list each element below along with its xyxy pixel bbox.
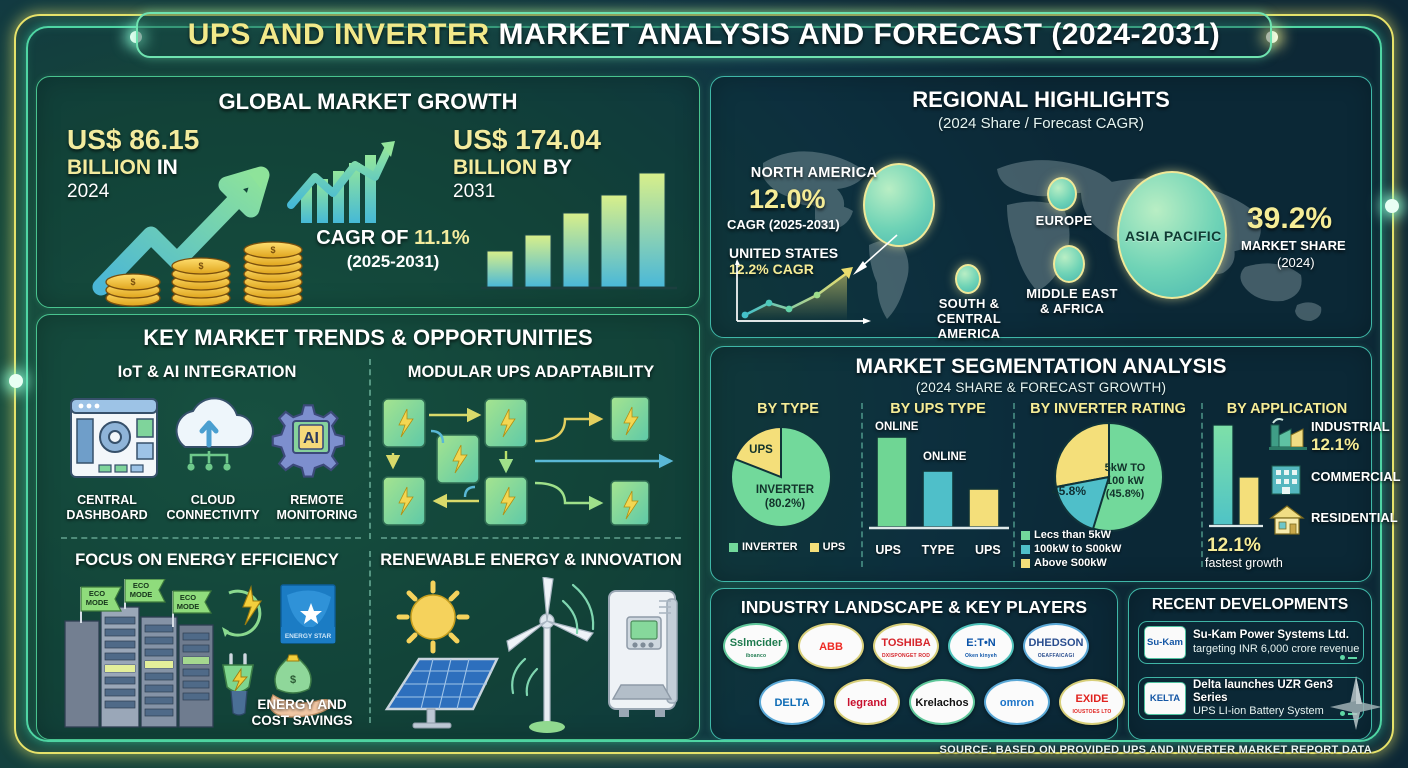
north-america-cagr: 12.0% bbox=[749, 184, 826, 215]
logo-name: Krelachos bbox=[915, 697, 968, 709]
inverter-legend-3: Above S00kW bbox=[1021, 557, 1121, 569]
seg-heading: MARKET SEGMENTATION ANALYSIS bbox=[711, 355, 1371, 379]
north-america-caption: CAGR (2025-2031) bbox=[727, 217, 840, 232]
bubble-middle-east-africa[interactable] bbox=[1053, 245, 1085, 283]
logo-chip-delta[interactable]: DELTA bbox=[759, 679, 825, 725]
by-type-pie-chart: UPS INVERTER (80.2%) bbox=[719, 421, 859, 541]
recent-item-1[interactable]: Su-Kam Su-Kam Power Systems Ltd. targeti… bbox=[1138, 621, 1364, 664]
recent-logo-text-2: KELTA bbox=[1150, 693, 1180, 704]
source-note: SOURCE: BASED ON PROVIDED UPS AND INVERT… bbox=[940, 744, 1372, 756]
icon-caption-cloud-connectivity: CLOUD CONNECTIVITY bbox=[161, 493, 265, 523]
trends-divider-h-left bbox=[61, 537, 361, 539]
panel-industry-landscape: INDUSTRY LANDSCAPE & KEY PLAYERS Sslmcid… bbox=[710, 588, 1118, 740]
page-title-rest: MARKET ANALYSIS AND FORECAST (2024-2031) bbox=[490, 18, 1221, 51]
by-type-legend: INVERTER UPS bbox=[729, 541, 845, 553]
trend-iot-icons: AI bbox=[59, 393, 359, 493]
app-fastest-growth-caption: fastest growth bbox=[1205, 556, 1283, 570]
svg-text:(45.8%): (45.8%) bbox=[1106, 488, 1145, 500]
legend-swatch-above-500kw bbox=[1021, 559, 1030, 568]
logo-chip-toshiba[interactable]: TOSHIBADXISPONGET ROD bbox=[873, 623, 939, 669]
stat-2024-value: US$ 86.15 bbox=[67, 125, 199, 154]
logo-name: Sslmcider bbox=[730, 637, 783, 649]
legend-label-ups: UPS bbox=[823, 541, 846, 553]
coin-stack-mid: $ bbox=[172, 258, 230, 306]
legend-swatch-100kw bbox=[1021, 545, 1030, 554]
neon-node-left bbox=[9, 374, 23, 388]
logo-row-1: SslmcideriboancoABBTOSHIBADXISPONGET ROD… bbox=[723, 623, 1089, 669]
by-ups-type-bar-chart bbox=[865, 435, 1011, 545]
panel-regional-highlights: REGIONAL HIGHLIGHTS (2024 Share / Foreca… bbox=[710, 76, 1372, 338]
cagr-label: CAGR OF bbox=[316, 227, 414, 249]
inverter-legend-label-1: Lecs than 5kW bbox=[1034, 529, 1111, 541]
page-title-bar: UPS AND INVERTER MARKET ANALYSIS AND FOR… bbox=[136, 12, 1272, 58]
logo-chip-exide[interactable]: EXIDEIOUSTOES LTO bbox=[1059, 679, 1125, 725]
svg-text:$: $ bbox=[198, 261, 203, 271]
cagr-callout: CAGR OF 11.1% (2025-2031) bbox=[283, 227, 503, 272]
north-america-label: NORTH AMERICA bbox=[729, 165, 899, 182]
inverter-unit-icon bbox=[609, 591, 677, 717]
asia-pacific-year: (2024) bbox=[1277, 255, 1315, 270]
trends-divider-vertical-top bbox=[369, 359, 371, 539]
icon-caption-central-dashboard: CENTRAL DASHBOARD bbox=[59, 493, 155, 523]
logo-name: TOSHIBA bbox=[881, 637, 930, 649]
by-application-bar-chart bbox=[1207, 421, 1265, 537]
logo-chip-omron[interactable]: omron bbox=[984, 679, 1050, 725]
asia-pacific-caption: MARKET SHARE bbox=[1241, 238, 1346, 253]
bubble-south-central-america[interactable] bbox=[955, 264, 981, 294]
ups-type-label-1: ONLINE bbox=[875, 421, 918, 433]
commercial-building-icon bbox=[1267, 460, 1307, 496]
panel-key-market-trends: KEY MARKET TRENDS & OPPORTUNITIES IoT & … bbox=[36, 314, 700, 740]
by-inverter-rating-pie-chart: 5kW TO 100 kW (45.8%) 45.8% bbox=[1019, 419, 1199, 541]
solar-panel-icon bbox=[387, 659, 497, 728]
logo-name: legrand bbox=[847, 697, 887, 709]
trends-heading: KEY MARKET TRENDS & OPPORTUNITIES bbox=[37, 325, 699, 351]
svg-text:MODE: MODE bbox=[177, 602, 200, 611]
seg-by-inverter-rating-head: BY INVERTER RATING bbox=[1017, 401, 1199, 417]
by-type-legend-ups: UPS bbox=[810, 541, 846, 553]
svg-text:INVERTER: INVERTER bbox=[756, 484, 815, 496]
sun-icon bbox=[399, 583, 467, 651]
asia-pacific-share: 39.2% bbox=[1247, 202, 1332, 236]
svg-text:ECO: ECO bbox=[180, 593, 196, 602]
svg-text:5kW TO: 5kW TO bbox=[1105, 462, 1146, 474]
region-heading: REGIONAL HIGHLIGHTS bbox=[711, 87, 1371, 113]
logo-row-2: DELTAlegrandKrelachosomronEXIDEIOUSTOES … bbox=[759, 679, 1125, 725]
logo-chip-krelachos[interactable]: Krelachos bbox=[909, 679, 975, 725]
inverter-legend-label-2: 100kW to S00kW bbox=[1034, 543, 1121, 555]
trend-renewable-title: RENEWABLE ENERGY & INNOVATION bbox=[379, 551, 683, 570]
wind-turbine-icon bbox=[507, 577, 593, 733]
bubble-asia-pacific-label: ASIA PACIFIC bbox=[1125, 228, 1221, 244]
svg-text:$: $ bbox=[270, 245, 275, 255]
by-ups-type-axis: UPS TYPE UPS bbox=[865, 543, 1011, 557]
logo-chip-dhedson[interactable]: DHEDSONOEAFFAICAGI bbox=[1023, 623, 1089, 669]
legend-label-inverter: INVERTER bbox=[742, 541, 798, 553]
svg-text:$: $ bbox=[290, 674, 296, 686]
ups-axis-2: TYPE bbox=[922, 543, 955, 557]
inverter-legend-1: Lecs than 5kW bbox=[1021, 529, 1121, 541]
logo-subtitle: IOUSTOES LTO bbox=[1072, 709, 1111, 715]
svg-text:AI: AI bbox=[303, 430, 319, 447]
app-label-commercial: COMMERCIAL bbox=[1311, 469, 1401, 484]
svg-text:45.8%: 45.8% bbox=[1052, 484, 1086, 498]
cagr-value: 11.1% bbox=[414, 227, 470, 249]
seg-subheading: (2024 SHARE & FORECAST GROWTH) bbox=[711, 380, 1371, 395]
seg-divider-3 bbox=[1201, 403, 1203, 567]
trend-energy-efficiency-title: FOCUS ON ENERGY EFFICIENCY bbox=[57, 551, 357, 570]
legend-swatch-inverter bbox=[729, 543, 738, 552]
seg-divider-2 bbox=[1013, 403, 1015, 567]
recent-item-1-dots bbox=[1340, 655, 1357, 660]
logo-subtitle: Oken kinyeh bbox=[965, 653, 997, 659]
recent-item-2-logo: KELTA bbox=[1144, 682, 1186, 715]
modular-ups-diagram bbox=[379, 391, 685, 539]
logo-subtitle: OEAFFAICAGI bbox=[1028, 653, 1083, 659]
logo-subtitle: DXISPONGET ROD bbox=[881, 653, 930, 659]
neon-node-right bbox=[1385, 199, 1399, 213]
industry-heading: INDUSTRY LANDSCAPE & KEY PLAYERS bbox=[711, 597, 1117, 618]
seg-by-ups-type-head: BY UPS TYPE bbox=[867, 401, 1009, 417]
page-title-highlight: UPS AND INVERTER bbox=[188, 18, 490, 51]
growth-bar-chart bbox=[473, 155, 683, 295]
panel-global-market-growth: GLOBAL MARKET GROWTH US$ 86.15 BILLION I… bbox=[36, 76, 700, 308]
recent-item-1-text: Su-Kam Power Systems Ltd. targeting INR … bbox=[1193, 629, 1359, 655]
svg-text:100 kW: 100 kW bbox=[1106, 475, 1145, 487]
logo-chip-e-t-n[interactable]: E:T•NOken kinyeh bbox=[948, 623, 1014, 669]
trend-modular-ups-title: MODULAR UPS ADAPTABILITY bbox=[381, 363, 681, 382]
logo-name: E:T•N bbox=[966, 637, 996, 649]
growth-heading: GLOBAL MARKET GROWTH bbox=[37, 89, 699, 115]
logo-chip-abb[interactable]: ABB bbox=[798, 623, 864, 669]
app-pct-industrial: 12.1% bbox=[1311, 435, 1359, 455]
bubble-europe[interactable] bbox=[1047, 177, 1077, 211]
logo-chip-legrand[interactable]: legrand bbox=[834, 679, 900, 725]
logo-name: ABB bbox=[819, 641, 843, 653]
app-fastest-growth-pct: 12.1% bbox=[1207, 535, 1261, 557]
svg-text:ENERGY STAR: ENERGY STAR bbox=[285, 633, 332, 640]
logo-name: EXIDE bbox=[1075, 693, 1108, 705]
app-label-industrial: INDUSTRIAL bbox=[1311, 419, 1390, 434]
logo-name: omron bbox=[1000, 697, 1034, 709]
energy-star-badge: ENERGY STAR bbox=[281, 585, 335, 643]
stat-2031-value: US$ 174.04 bbox=[453, 125, 601, 154]
ups-axis-3: UPS bbox=[975, 543, 1001, 557]
south-central-america-label: SOUTH & CENTRAL AMERICA bbox=[925, 297, 1013, 342]
coin-stack-small: $ bbox=[106, 274, 160, 306]
recent-item-1-logo: Su-Kam bbox=[1144, 626, 1186, 659]
svg-text:$: $ bbox=[130, 277, 135, 287]
seg-divider-1 bbox=[861, 403, 863, 567]
svg-text:UPS: UPS bbox=[749, 444, 773, 456]
page-title: UPS AND INVERTER MARKET ANALYSIS AND FOR… bbox=[188, 18, 1221, 52]
renewable-illustration bbox=[381, 577, 691, 737]
icon-caption-remote-monitoring: REMOTE MONITORING bbox=[269, 493, 365, 523]
cagr-period: (2025-2031) bbox=[283, 252, 503, 272]
panel-market-segmentation: MARKET SEGMENTATION ANALYSIS (2024 SHARE… bbox=[710, 346, 1372, 582]
compass-rose-icon bbox=[1328, 674, 1384, 740]
middle-east-africa-label: MIDDLE EAST & AFRICA bbox=[1017, 287, 1127, 317]
residential-house-icon bbox=[1267, 502, 1307, 536]
infographic-canvas: UPS AND INVERTER MARKET ANALYSIS AND FOR… bbox=[0, 0, 1408, 768]
industrial-factory-icon bbox=[1267, 417, 1311, 451]
cloud-connectivity-icon bbox=[177, 398, 253, 470]
legend-swatch-ups bbox=[810, 543, 819, 552]
growth-mini-chart bbox=[285, 135, 415, 227]
recent-item-1-title: Su-Kam Power Systems Ltd. bbox=[1193, 629, 1359, 642]
logo-name: DHEDSON bbox=[1028, 637, 1083, 649]
inverter-legend-label-3: Above S00kW bbox=[1034, 557, 1107, 569]
europe-label: EUROPE bbox=[1029, 214, 1099, 229]
recycle-bolt-icon bbox=[222, 587, 261, 637]
seg-by-application-head: BY APPLICATION bbox=[1207, 401, 1367, 417]
by-type-legend-inverter: INVERTER bbox=[729, 541, 798, 553]
svg-text:ECO: ECO bbox=[133, 581, 149, 590]
by-inverter-rating-legend: Lecs than 5kW 100kW to S00kW Above S00kW bbox=[1021, 529, 1121, 569]
seg-by-type-head: BY TYPE bbox=[717, 401, 859, 417]
svg-text:MODE: MODE bbox=[130, 590, 153, 599]
svg-text:(80.2%): (80.2%) bbox=[765, 498, 805, 510]
central-dashboard-icon bbox=[71, 399, 157, 477]
united-states-line-chart bbox=[725, 255, 885, 335]
energy-cost-savings-caption: ENERGY AND COST SAVINGS bbox=[237, 697, 367, 729]
logo-chip-sslmcider[interactable]: Sslmcideriboanco bbox=[723, 623, 789, 669]
svg-text:MODE: MODE bbox=[86, 598, 109, 607]
ups-axis-1: UPS bbox=[875, 543, 901, 557]
svg-text:ECO: ECO bbox=[89, 589, 105, 598]
trends-divider-vertical-bottom bbox=[369, 551, 371, 723]
logo-name: DELTA bbox=[774, 697, 809, 709]
recent-item-1-detail: targeting INR 6,000 crore revenue bbox=[1193, 643, 1359, 656]
legend-swatch-less-5kw bbox=[1021, 531, 1030, 540]
recent-heading: RECENT DEVELOPMENTS bbox=[1129, 596, 1371, 614]
remote-monitoring-icon: AI bbox=[273, 405, 344, 476]
logo-subtitle: iboanco bbox=[730, 653, 783, 659]
trend-iot-ai-title: IoT & AI INTEGRATION bbox=[57, 363, 357, 382]
inverter-legend-2: 100kW to S00kW bbox=[1021, 543, 1121, 555]
recent-logo-text-1: Su-Kam bbox=[1147, 637, 1183, 648]
app-label-residential: RESIDENTIAL bbox=[1311, 510, 1398, 525]
